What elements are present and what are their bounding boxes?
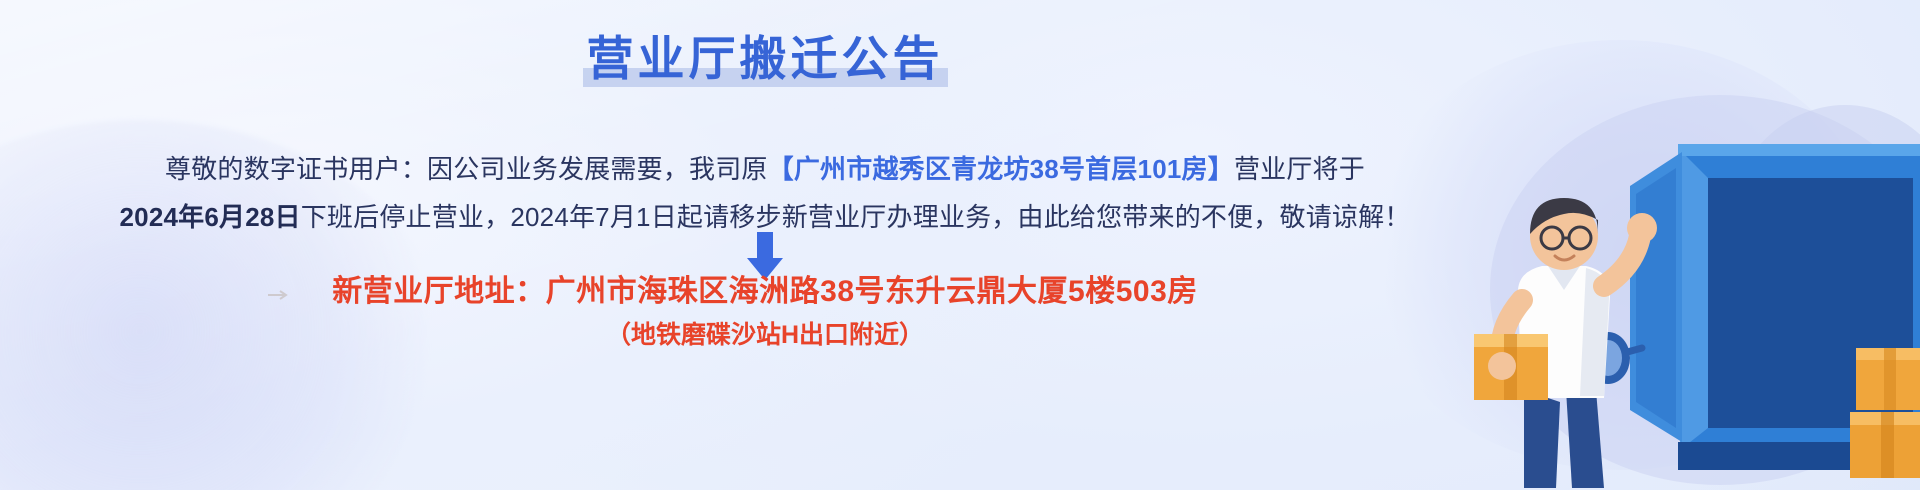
new-address-note: （地铁磨碟沙站H出口附近） — [0, 318, 1530, 352]
arrow-shaft — [757, 232, 773, 260]
page-title: 营业厅搬迁公告 — [587, 32, 944, 85]
new-address-text: 新营业厅地址：广州市海珠区海洲路38号东升云鼎大厦5楼503房 — [0, 272, 1530, 312]
announcement-line-2: 2024年6月28日下班后停止营业，2024年7月1日起请移步新营业厅办理业务，… — [0, 200, 1530, 234]
page-title-wrap: 营业厅搬迁公告 — [0, 28, 1530, 102]
line1-part1: 尊敬的数字证书用户：因公司业务发展需要，我司原 — [165, 154, 768, 184]
old-address-highlight: 【广州市越秀区青龙坊38号首层101房】 — [768, 154, 1234, 184]
announcement-line-1: 尊敬的数字证书用户：因公司业务发展需要，我司原【广州市越秀区青龙坊38号首层10… — [0, 152, 1530, 186]
page-title-inner: 营业厅搬迁公告 — [581, 28, 950, 90]
relocation-announcement-banner: 营业厅搬迁公告 尊敬的数字证书用户：因公司业务发展需要，我司原【广州市越秀区青龙… — [0, 0, 1920, 490]
closing-date-highlight: 2024年6月28日 — [120, 202, 301, 232]
line1-part2: 营业厅将于 — [1234, 154, 1365, 184]
cardboard-box-icon — [1850, 348, 1920, 478]
line2-rest: 下班后停止营业，2024年7月1日起请移步新营业厅办理业务，由此给您带来的不便，… — [301, 202, 1411, 232]
announcement-content: 营业厅搬迁公告 尊敬的数字证书用户：因公司业务发展需要，我司原【广州市越秀区青龙… — [0, 0, 1530, 490]
delivery-illustration — [1390, 90, 1920, 490]
